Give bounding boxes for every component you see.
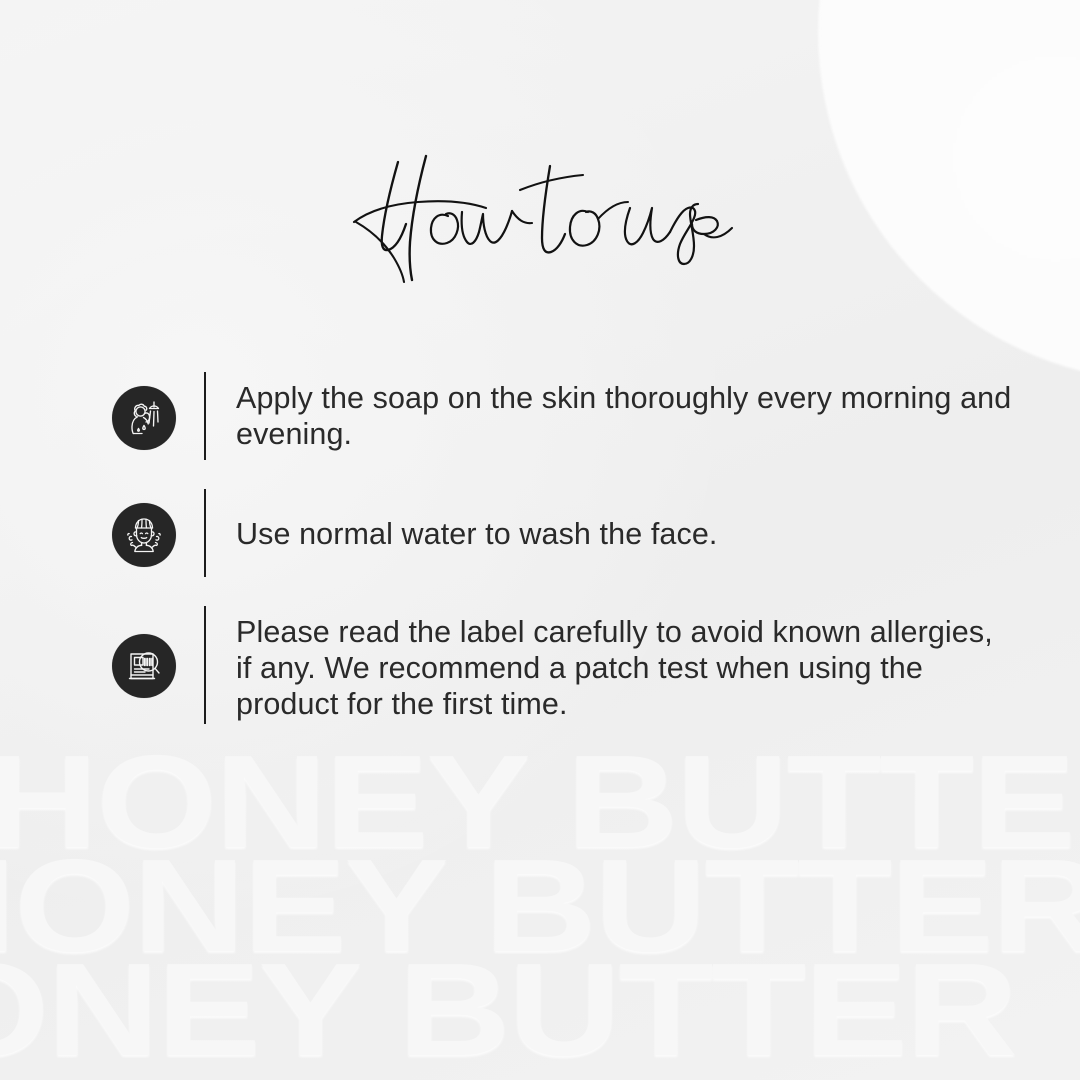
step-divider — [204, 372, 206, 460]
list-item: Apply the soap on the skin thoroughly ev… — [112, 372, 1012, 462]
watermark-row: HONEY BUTTER — [0, 840, 1080, 972]
face-wash-icon — [123, 514, 165, 556]
step-divider — [204, 606, 206, 724]
page-title-script-art — [340, 150, 740, 290]
step-divider — [204, 489, 206, 577]
watermark-row: HONEY BUTTER — [0, 944, 1016, 1076]
watermark-row: HONEY BUTTER — [0, 736, 1080, 868]
step-icon-badge — [112, 634, 176, 698]
step-text: Please read the label carefully to avoid… — [236, 606, 1012, 723]
step-text: Apply the soap on the skin thoroughly ev… — [236, 372, 1012, 453]
label-magnifier-barcode-icon — [123, 645, 165, 687]
list-item: Please read the label carefully to avoid… — [112, 606, 1012, 726]
page-title: How to use — [0, 150, 1080, 295]
step-text: Use normal water to wash the face. — [236, 489, 1012, 553]
watermark: HONEY BUTTER HONEY BUTTER HONEY BUTTER — [0, 712, 1080, 1080]
person-shower-icon — [123, 397, 165, 439]
step-icon-badge — [112, 503, 176, 567]
instruction-steps-list: Apply the soap on the skin thoroughly ev… — [112, 372, 1012, 726]
step-icon-badge — [112, 386, 176, 450]
list-item: Use normal water to wash the face. — [112, 489, 1012, 579]
how-to-use-slide: HONEY BUTTER HONEY BUTTER HONEY BUTTER — [0, 0, 1080, 1080]
